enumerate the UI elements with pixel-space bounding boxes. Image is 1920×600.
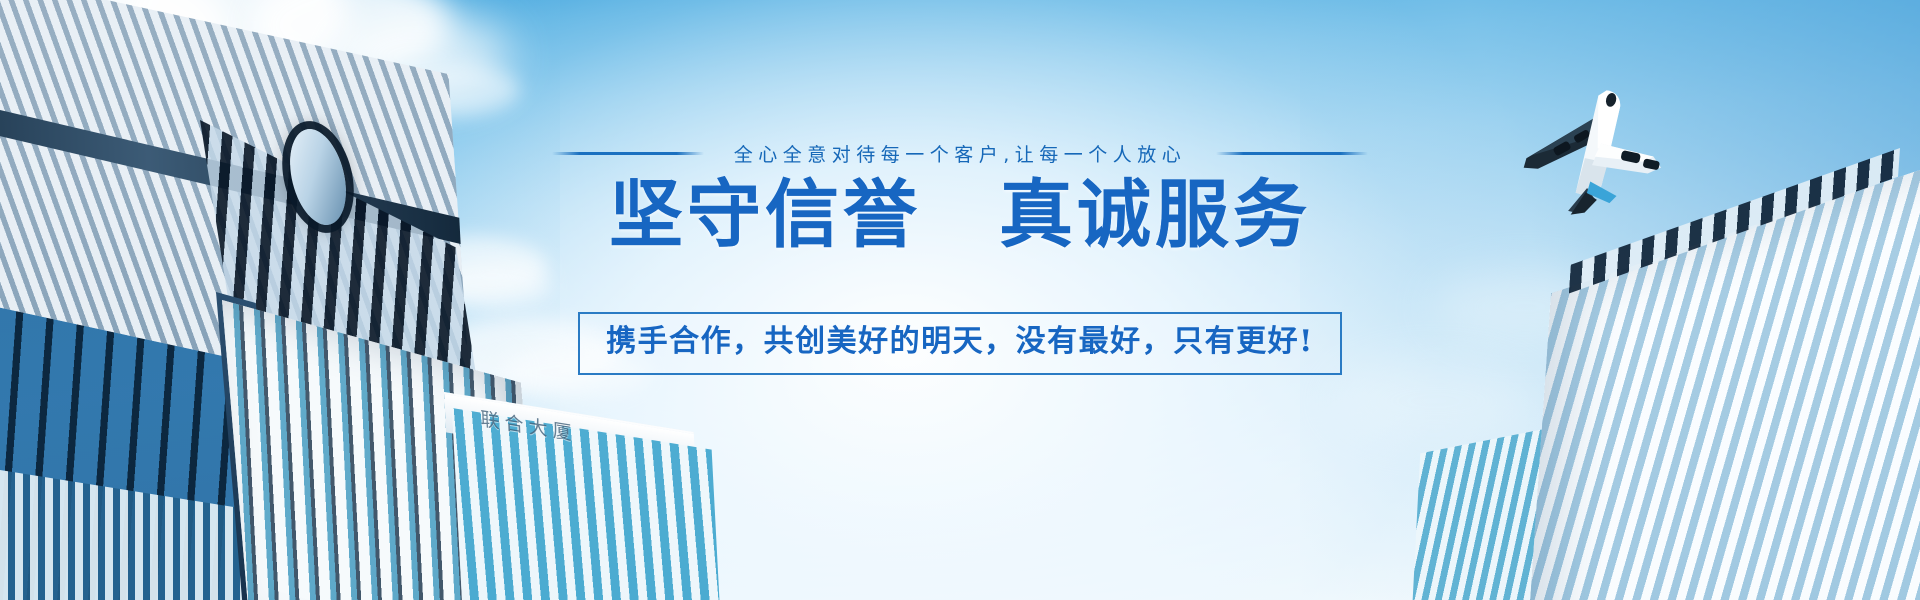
banner-content: 全心全意对待每一个客户,让每一个人放心 坚守信誉 真诚服务 携手合作，共创美好的…	[0, 0, 1920, 600]
hero-banner: 联合大厦	[0, 0, 1920, 600]
divider-rule-right	[1216, 152, 1368, 155]
divider-rule-left	[552, 152, 704, 155]
tagline-row: 全心全意对待每一个客户,让每一个人放心	[0, 140, 1920, 167]
subtitle-wrap: 携手合作，共创美好的明天，没有最好，只有更好!	[0, 312, 1920, 375]
subtitle-box: 携手合作，共创美好的明天，没有最好，只有更好!	[578, 312, 1342, 375]
banner-subtitle: 携手合作，共创美好的明天，没有最好，只有更好!	[606, 323, 1314, 361]
banner-tagline: 全心全意对待每一个客户,让每一个人放心	[734, 140, 1187, 167]
banner-headline: 坚守信誉 真诚服务	[0, 176, 1920, 254]
